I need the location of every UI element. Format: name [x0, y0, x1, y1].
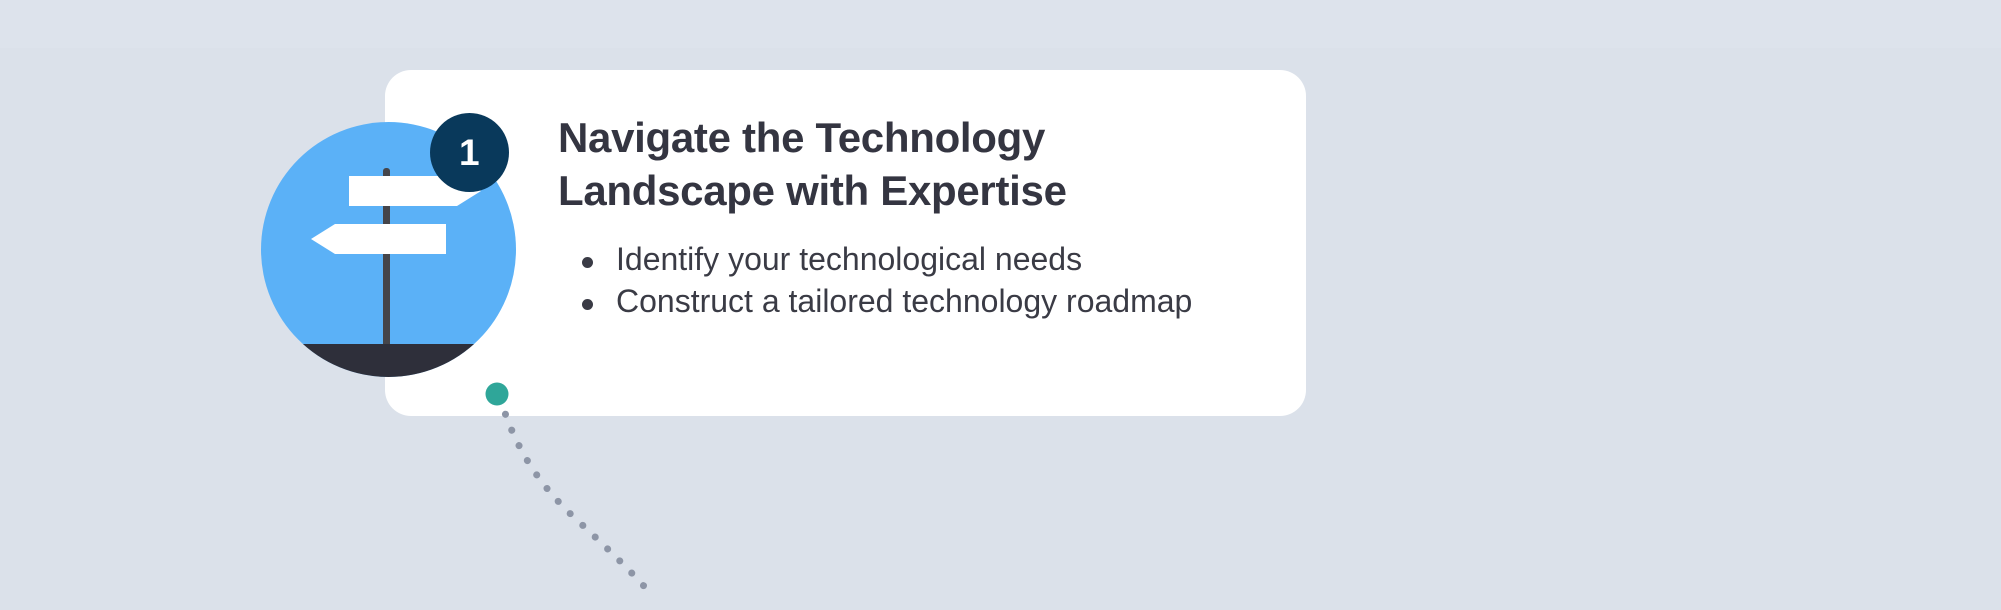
sign-pointing-left-icon [311, 224, 446, 254]
list-item: Construct a tailored technology roadmap [558, 281, 1258, 323]
list-item: Identify your technological needs [558, 239, 1258, 281]
slide-canvas: 1 Navigate the Technology Landscape with… [0, 0, 2001, 610]
step-number-label: 1 [459, 134, 480, 171]
illustration-ground [261, 344, 516, 377]
background-top-band [0, 0, 2001, 48]
step-bullet-list: Identify your technological needs Constr… [558, 239, 1258, 323]
step-number-badge: 1 [430, 113, 509, 192]
step-title: Navigate the Technology Landscape with E… [558, 112, 1258, 217]
step-content: Navigate the Technology Landscape with E… [558, 112, 1258, 323]
connector-dotted-path [500, 398, 651, 594]
